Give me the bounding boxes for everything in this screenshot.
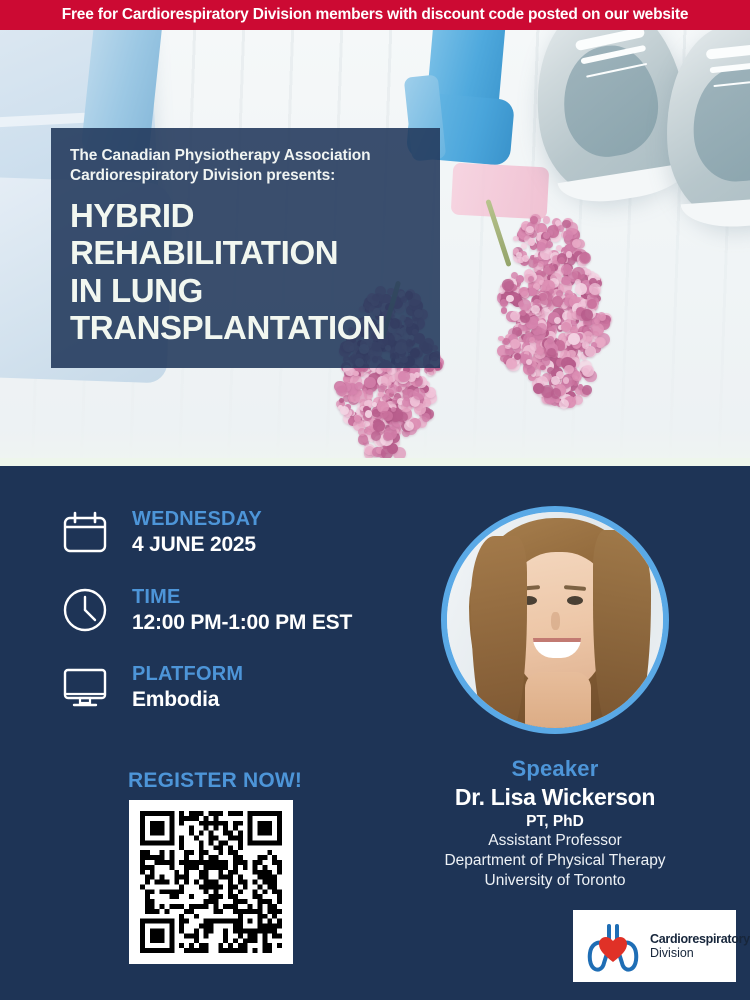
speaker-name: Dr. Lisa Wickerson bbox=[400, 784, 710, 811]
logo-line-2: Division bbox=[650, 946, 750, 960]
detail-row-date: WEDNESDAY 4 JUNE 2025 bbox=[62, 508, 352, 558]
presenter-line-1: The Canadian Physiotherapy Association bbox=[70, 146, 418, 166]
logo-line-1: Cardiorespiratory bbox=[650, 932, 750, 946]
detail-text-time: TIME 12:00 PM-1:00 PM EST bbox=[132, 586, 352, 636]
date-label: WEDNESDAY bbox=[132, 508, 262, 531]
speaker-institution: University of Toronto bbox=[400, 871, 710, 891]
qr-code-image[interactable] bbox=[140, 811, 282, 953]
pink-mat bbox=[451, 163, 550, 220]
nose bbox=[551, 612, 560, 630]
calendar-icon bbox=[62, 511, 118, 555]
speaker-label: Speaker bbox=[400, 756, 710, 782]
presenter-line-2: Cardiorespiratory Division presents: bbox=[70, 166, 418, 186]
speaker-title: Assistant Professor bbox=[400, 831, 710, 851]
title-overlay: The Canadian Physiotherapy Association C… bbox=[51, 128, 440, 368]
details-list: WEDNESDAY 4 JUNE 2025 TIME 12:00 PM-1:00… bbox=[62, 508, 352, 741]
eye-right bbox=[567, 596, 583, 605]
speaker-department: Department of Physical Therapy bbox=[400, 851, 710, 871]
logo-text: Cardiorespiratory Division bbox=[650, 932, 750, 960]
speaker-photo bbox=[447, 512, 663, 728]
organization-logo: Cardiorespiratory Division bbox=[573, 910, 736, 982]
detail-row-platform: PLATFORM Embodia bbox=[62, 663, 352, 713]
title-line-3: IN LUNG bbox=[70, 272, 418, 309]
register-heading: REGISTER NOW! bbox=[128, 769, 302, 793]
platform-value: Embodia bbox=[132, 687, 243, 713]
time-label: TIME bbox=[132, 586, 352, 609]
presenter-line: The Canadian Physiotherapy Association C… bbox=[70, 146, 418, 185]
platform-label: PLATFORM bbox=[132, 663, 243, 686]
discount-banner: Free for Cardiorespiratory Division memb… bbox=[0, 0, 750, 30]
detail-row-time: TIME 12:00 PM-1:00 PM EST bbox=[62, 586, 352, 636]
qr-code[interactable] bbox=[129, 800, 293, 964]
hair-front-right bbox=[593, 530, 651, 734]
detail-text-platform: PLATFORM Embodia bbox=[132, 663, 243, 713]
cream-divider bbox=[0, 458, 750, 466]
speaker-block: Speaker Dr. Lisa Wickerson PT, PhD Assis… bbox=[400, 756, 710, 891]
title-line-4: TRANSPLANTATION bbox=[70, 309, 418, 346]
lilac-lung-right bbox=[452, 220, 622, 435]
neck bbox=[525, 672, 591, 734]
clock-icon bbox=[62, 587, 118, 633]
discount-banner-text: Free for Cardiorespiratory Division memb… bbox=[62, 6, 689, 24]
speaker-credentials: PT, PhD bbox=[400, 813, 710, 831]
detail-text-date: WEDNESDAY 4 JUNE 2025 bbox=[132, 508, 262, 558]
hero-image: The Canadian Physiotherapy Association C… bbox=[0, 30, 750, 462]
hair-front-left bbox=[471, 536, 527, 734]
lungs-with-heart-icon bbox=[583, 920, 643, 972]
page-title: HYBRID REHABILITATION IN LUNG TRANSPLANT… bbox=[70, 197, 418, 346]
title-line-1: HYBRID bbox=[70, 197, 418, 234]
title-line-2: REHABILITATION bbox=[70, 234, 418, 271]
monitor-icon bbox=[62, 667, 118, 709]
time-value: 12:00 PM-1:00 PM EST bbox=[132, 610, 352, 636]
avatar bbox=[441, 506, 669, 734]
date-value: 4 JUNE 2025 bbox=[132, 532, 262, 558]
